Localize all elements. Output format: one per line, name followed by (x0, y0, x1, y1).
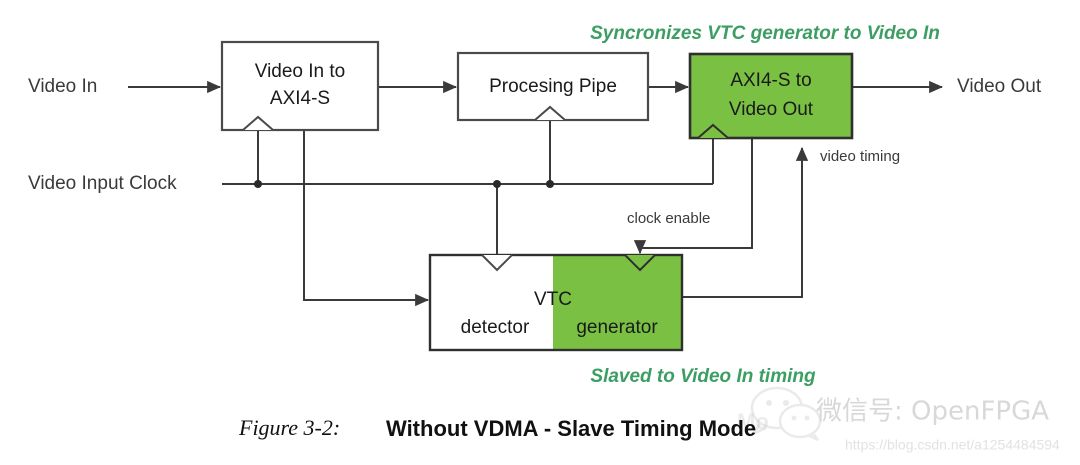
block-video-in-to-axi4s-label-line1: Video In to (255, 61, 346, 82)
label-video-out: Video Out (957, 76, 1042, 97)
block-axi4s-to-video-out[interactable]: AXI4-S to Video Out (690, 54, 852, 138)
watermark-wechat-id: 微信号: OpenFPGA (816, 397, 1049, 427)
block-axi4s-to-video-out-label-line1: AXI4-S to (730, 70, 811, 91)
label-video-in: Video In (28, 76, 97, 97)
block-vtc-generator-label: generator (576, 317, 658, 338)
caption-title: Without VDMA - Slave Timing Mode (386, 416, 756, 441)
block-axi4s-to-video-out-label-line2: Video Out (729, 99, 814, 120)
block-vtc[interactable]: VTC detector generator (430, 255, 682, 350)
label-video-input-clock: Video Input Clock (28, 173, 177, 194)
block-procesing-pipe-label: Procesing Pipe (489, 76, 617, 97)
figure-container: Video In to AXI4-S Procesing Pipe AXI4-S… (0, 0, 1080, 465)
watermark-url: https://blog.csdn.net/a1254484594 (845, 437, 1060, 453)
block-video-in-to-axi4s[interactable]: Video In to AXI4-S (222, 42, 378, 130)
junction-dot-clock-pipe (546, 180, 554, 188)
block-diagram: Video In to AXI4-S Procesing Pipe AXI4-S… (0, 0, 1080, 465)
block-vtc-detector-label: detector (461, 317, 530, 338)
junction-dot-clock-vtc (493, 180, 501, 188)
wire-block1-to-vtc-detector (304, 130, 428, 300)
wire-clock-enable (640, 138, 752, 253)
block-video-in-to-axi4s-label-line2: AXI4-S (270, 88, 330, 109)
annotation-top-note: Syncronizes VTC generator to Video In (590, 23, 940, 44)
block-video-in-to-axi4s-rect[interactable] (222, 42, 378, 130)
annotation-bottom-note: Slaved to Video In timing (590, 366, 816, 387)
label-video-timing: video timing (820, 148, 900, 165)
junction-dot-clock-block1 (254, 180, 262, 188)
blocks-layer: Video In to AXI4-S Procesing Pipe AXI4-S… (222, 42, 852, 350)
block-procesing-pipe[interactable]: Procesing Pipe (458, 53, 648, 120)
block-vtc-label: VTC (534, 289, 572, 310)
watermark-layer: Mo 微信号: OpenFPGA https://blog.csdn.net/a… (737, 388, 1060, 453)
caption-layer: Figure 3-2: Without VDMA - Slave Timing … (238, 415, 756, 441)
caption-number: Figure 3-2: (238, 415, 340, 440)
label-clock-enable: clock enable (627, 210, 710, 227)
